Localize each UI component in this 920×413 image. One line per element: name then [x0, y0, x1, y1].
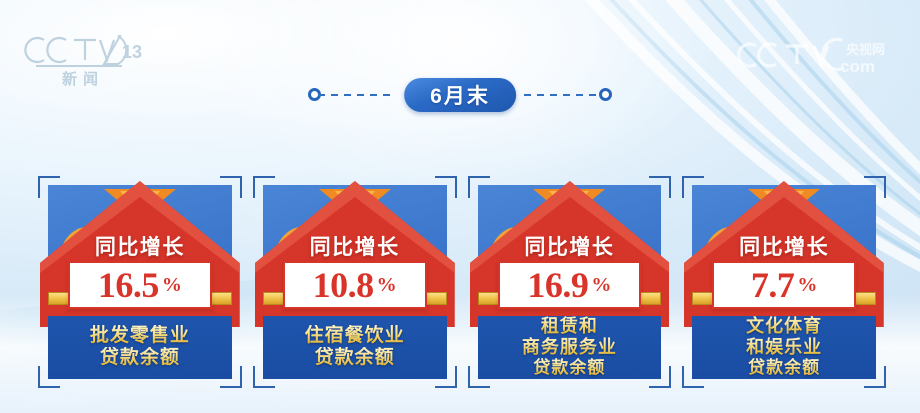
- card-name-line: 贷款余额: [100, 347, 180, 368]
- percentage-symbol: %: [377, 274, 397, 297]
- card-name-line: 商务服务业: [522, 337, 617, 357]
- header-title: 6月末: [430, 80, 490, 110]
- card-name-line: 住宿餐饮业: [305, 325, 405, 346]
- stat-card-body: 同比增长 10.8 % 住宿餐饮业贷款余额: [263, 185, 447, 379]
- card-footer: 文化体育和娱乐业贷款余额: [692, 316, 876, 379]
- growth-label: 同比增长: [48, 231, 232, 261]
- svg-text:13: 13: [122, 42, 142, 62]
- growth-label: 同比增长: [478, 231, 662, 261]
- percentage-panel: 10.8 %: [283, 261, 427, 309]
- stat-card-1: 同比增长 16.5 % 批发零售业贷款余额: [38, 176, 242, 388]
- stat-card-body: 同比增长 16.9 % 租赁和商务服务业贷款余额: [478, 185, 662, 379]
- percentage-symbol: %: [162, 274, 182, 297]
- card-name-line: 和娱乐业: [746, 337, 822, 357]
- percentage-panel: 16.9 %: [498, 261, 642, 309]
- header-left-dashes: [318, 94, 396, 96]
- percentage-value: 16.5: [98, 267, 159, 303]
- stat-card-2: 同比增长 10.8 % 住宿餐饮业贷款余额: [253, 176, 457, 388]
- percentage-value: 16.9: [527, 267, 588, 303]
- stat-card-row: 同比增长 16.5 % 批发零售业贷款余额: [38, 176, 886, 388]
- percentage-value: 10.8: [313, 267, 374, 303]
- card-name-line: 贷款余额: [533, 358, 605, 377]
- card-name-line: 租赁和: [541, 316, 598, 336]
- infographic-stage: 13 新闻 央视网 com 6月末: [0, 0, 920, 413]
- header-right-dot: [599, 88, 612, 101]
- header-right-dashes: [524, 94, 602, 96]
- card-footer: 住宿餐饮业贷款余额: [263, 316, 447, 379]
- card-footer: 租赁和商务服务业贷款余额: [478, 316, 662, 379]
- stat-card-body: 同比增长 7.7 % 文化体育和娱乐业贷款余额: [692, 185, 876, 379]
- cctv-com-watermark: 央视网 com: [734, 34, 894, 78]
- stat-card-4: 同比增长 7.7 % 文化体育和娱乐业贷款余额: [682, 176, 886, 388]
- percentage-symbol: %: [591, 274, 611, 297]
- percentage-value: 7.7: [751, 267, 795, 303]
- stat-card-body: 同比增长 16.5 % 批发零售业贷款余额: [48, 185, 232, 379]
- card-name-line: 贷款余额: [748, 358, 820, 377]
- percentage-panel: 7.7 %: [712, 261, 856, 309]
- card-footer: 批发零售业贷款余额: [48, 316, 232, 379]
- growth-label: 同比增长: [692, 231, 876, 261]
- stat-card-3: 同比增长 16.9 % 租赁和商务服务业贷款余额: [468, 176, 672, 388]
- header-pill: 6月末: [404, 78, 516, 112]
- header-banner: 6月末: [0, 78, 920, 112]
- svg-text:央视网: 央视网: [846, 42, 885, 57]
- percentage-panel: 16.5 %: [68, 261, 212, 309]
- card-name-line: 批发零售业: [90, 325, 190, 346]
- card-name-line: 文化体育: [746, 316, 822, 336]
- svg-text:com: com: [840, 57, 875, 76]
- percentage-symbol: %: [797, 274, 817, 297]
- card-name-line: 贷款余额: [315, 347, 395, 368]
- growth-label: 同比增长: [263, 231, 447, 261]
